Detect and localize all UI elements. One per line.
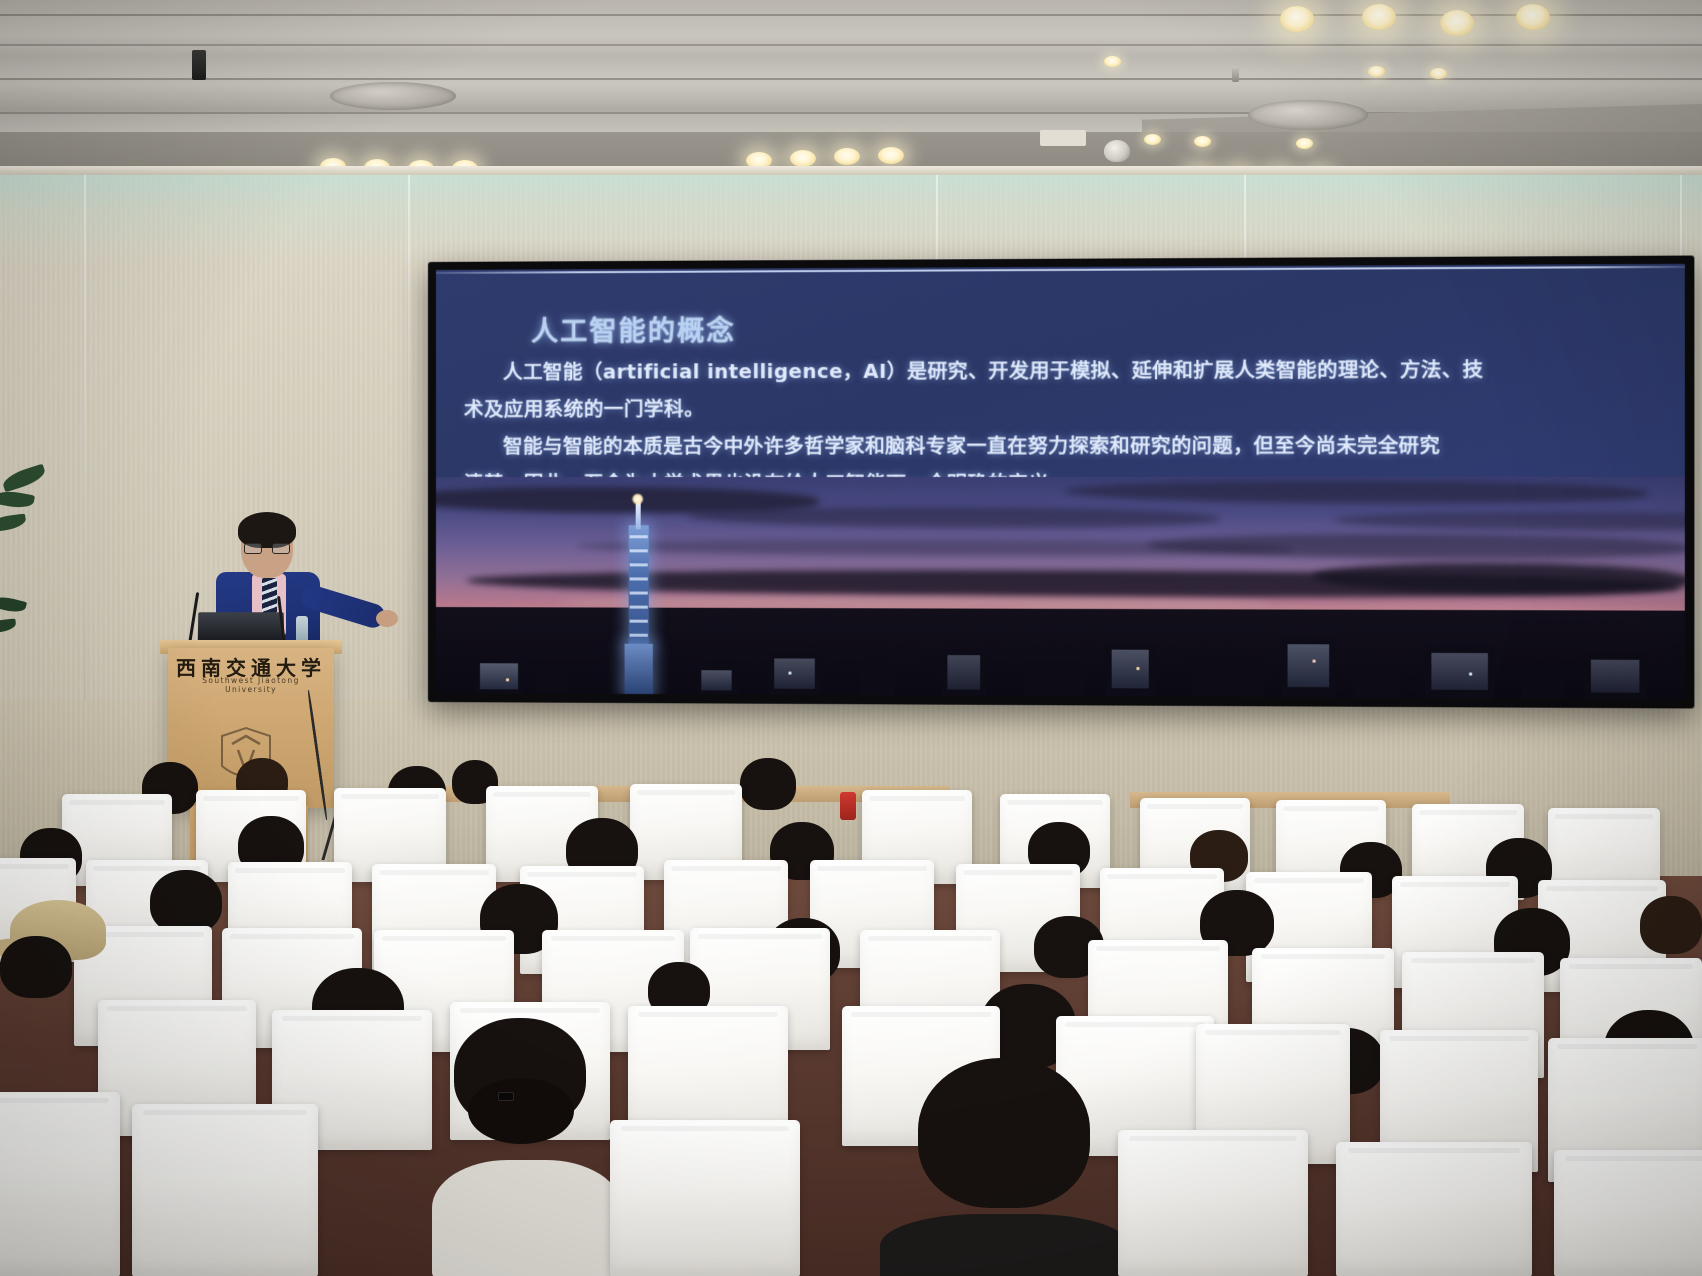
slide-paragraph: 术及应用系统的一门学科。 bbox=[464, 388, 1664, 428]
audience-head bbox=[0, 936, 72, 998]
chair bbox=[610, 1120, 800, 1276]
chair bbox=[132, 1104, 318, 1276]
slide: 人工智能的概念 人工智能（artificial intelligence，AI）… bbox=[436, 264, 1685, 699]
sprinkler-head bbox=[1232, 66, 1239, 82]
lectern-university-name-en: Southwest Jiaotong University bbox=[176, 676, 326, 694]
recessed-downlight bbox=[1430, 68, 1447, 79]
cove-light-glow bbox=[0, 172, 1702, 262]
hair-bun bbox=[468, 1078, 574, 1144]
recessed-downlight bbox=[790, 150, 816, 167]
surveillance-camera bbox=[1104, 140, 1130, 162]
lecture-hall-photo: 人工智能的概念 人工智能（artificial intelligence，AI）… bbox=[0, 0, 1702, 1276]
hair-clip bbox=[498, 1092, 514, 1101]
slide-top-rule bbox=[436, 266, 1685, 274]
audience-shoulders bbox=[880, 1214, 1130, 1276]
slide-image-city-skyline bbox=[436, 477, 1685, 699]
recessed-downlight bbox=[1104, 56, 1121, 67]
recessed-downlight bbox=[1362, 4, 1396, 30]
slide-paragraph: 智能与智能的本质是古今中外许多哲学家和脑科专家一直在努力探索和研究的问题，但至今… bbox=[464, 426, 1664, 465]
slide-title: 人工智能的概念 bbox=[531, 309, 736, 349]
recessed-downlight bbox=[1296, 138, 1313, 149]
tower-building bbox=[629, 525, 649, 648]
tower-base bbox=[625, 644, 653, 694]
security-camera bbox=[192, 50, 206, 80]
tower-spire bbox=[636, 501, 641, 529]
presentation-screen[interactable]: 人工智能的概念 人工智能（artificial intelligence，AI）… bbox=[428, 256, 1694, 709]
chair bbox=[1336, 1142, 1532, 1276]
ceiling-speaker bbox=[1248, 100, 1368, 130]
recessed-downlight bbox=[1516, 4, 1550, 30]
chair bbox=[1118, 1130, 1308, 1276]
chair bbox=[0, 1092, 120, 1276]
speaker-hand bbox=[376, 610, 398, 627]
audience-head bbox=[918, 1058, 1090, 1208]
recessed-downlight bbox=[1194, 136, 1211, 147]
audience-head bbox=[150, 870, 222, 934]
recessed-downlight bbox=[834, 148, 860, 165]
chair bbox=[1554, 1150, 1702, 1276]
recessed-downlight bbox=[1144, 134, 1161, 145]
eyeglasses-icon bbox=[244, 543, 290, 554]
audience-head bbox=[740, 758, 796, 810]
audience-shoulders bbox=[432, 1160, 622, 1276]
wall-cornice bbox=[0, 166, 1702, 175]
tower-beacon bbox=[632, 493, 644, 505]
recessed-downlight bbox=[878, 147, 904, 164]
potted-plant bbox=[0, 470, 52, 660]
slide-paragraph: 人工智能（artificial intelligence，AI）是研究、开发用于… bbox=[464, 350, 1664, 391]
recessed-downlight bbox=[1440, 10, 1474, 36]
ceiling-speaker bbox=[330, 82, 456, 110]
ceiling-sensor-box bbox=[1040, 130, 1086, 146]
drink-can bbox=[840, 792, 856, 820]
recessed-downlight bbox=[1280, 6, 1314, 32]
recessed-downlight bbox=[1368, 66, 1385, 77]
audience-head bbox=[1640, 896, 1702, 954]
